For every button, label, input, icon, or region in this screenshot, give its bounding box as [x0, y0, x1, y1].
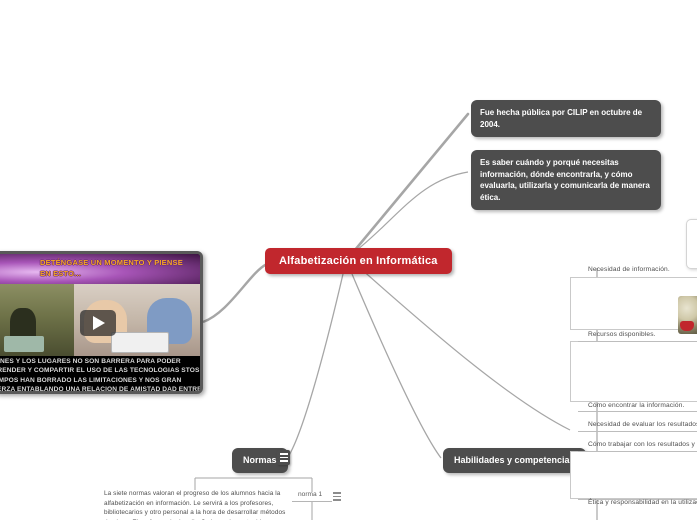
list-rule-4 — [578, 451, 697, 452]
central-node[interactable]: Alfabetización en Informática — [265, 248, 452, 274]
video-caption-text: CIONES Y LOS LUGARES NO SON BARRERA PARA… — [0, 357, 200, 391]
norma-1-label[interactable]: norma 1 — [298, 491, 322, 498]
list-box-etica — [570, 451, 697, 499]
node-habilidades[interactable]: Habilidades y competencias — [443, 448, 586, 473]
play-icon[interactable] — [80, 310, 116, 336]
note-icon-normas[interactable] — [277, 450, 290, 465]
node-cilip[interactable]: Fue hecha pública por CILIP en octubre d… — [471, 100, 661, 137]
connector-central-list — [360, 268, 570, 430]
list-item-etica-responsabilidad[interactable]: Ética y responsabilidad en la utilizació… — [588, 499, 697, 506]
note-icon-norma-1[interactable] — [330, 489, 343, 504]
photo-child-outdoors — [0, 284, 74, 356]
connector-central-definicion — [357, 172, 468, 250]
laptop-graphic — [111, 332, 169, 353]
list-item-necesidad-informacion[interactable]: Necesidad de información. — [588, 266, 670, 273]
mindmap-canvas: Alfabetización en Informática Fue hecha … — [0, 0, 697, 520]
list-rule-2 — [578, 411, 697, 412]
norma-1-underline — [292, 501, 332, 502]
list-rule-1 — [578, 341, 697, 342]
list-item-evaluar-resultados[interactable]: Necesidad de evaluar los resultados. — [588, 421, 697, 428]
connector-central-video — [203, 264, 267, 322]
video-caption: CIONES Y LOS LUGARES NO SON BARRERA PARA… — [0, 356, 200, 391]
list-item-recursos-disponibles[interactable]: Recursos disponibles. — [588, 331, 656, 338]
connector-central-cilip — [355, 114, 468, 250]
node-definicion[interactable]: Es saber cuándo y porqué necesitas infor… — [471, 150, 661, 210]
video-thumbnail-node[interactable]: DETÉNGASE UN MOMENTO Y PIENSE EN ESTO...… — [0, 251, 203, 394]
connector-central-habilidades — [352, 274, 441, 458]
list-item-trabajar-resultados[interactable]: Cómo trabajar con los resultados y exp — [588, 441, 697, 448]
video-banner-text: DETÉNGASE UN MOMENTO Y PIENSE EN ESTO... — [40, 257, 190, 280]
list-box-encontrar — [570, 341, 697, 402]
list-item-como-encontrar[interactable]: Cómo encontrar la información. — [588, 402, 685, 409]
right-side-panel[interactable] — [686, 219, 697, 269]
connector-central-normas — [288, 274, 343, 457]
list-rule-3 — [578, 431, 697, 432]
clipart-image — [678, 296, 697, 334]
video-banner: DETÉNGASE UN MOMENTO Y PIENSE EN ESTO... — [0, 254, 200, 284]
normas-paragraph: La siete normas valoran el progreso de l… — [104, 489, 286, 520]
